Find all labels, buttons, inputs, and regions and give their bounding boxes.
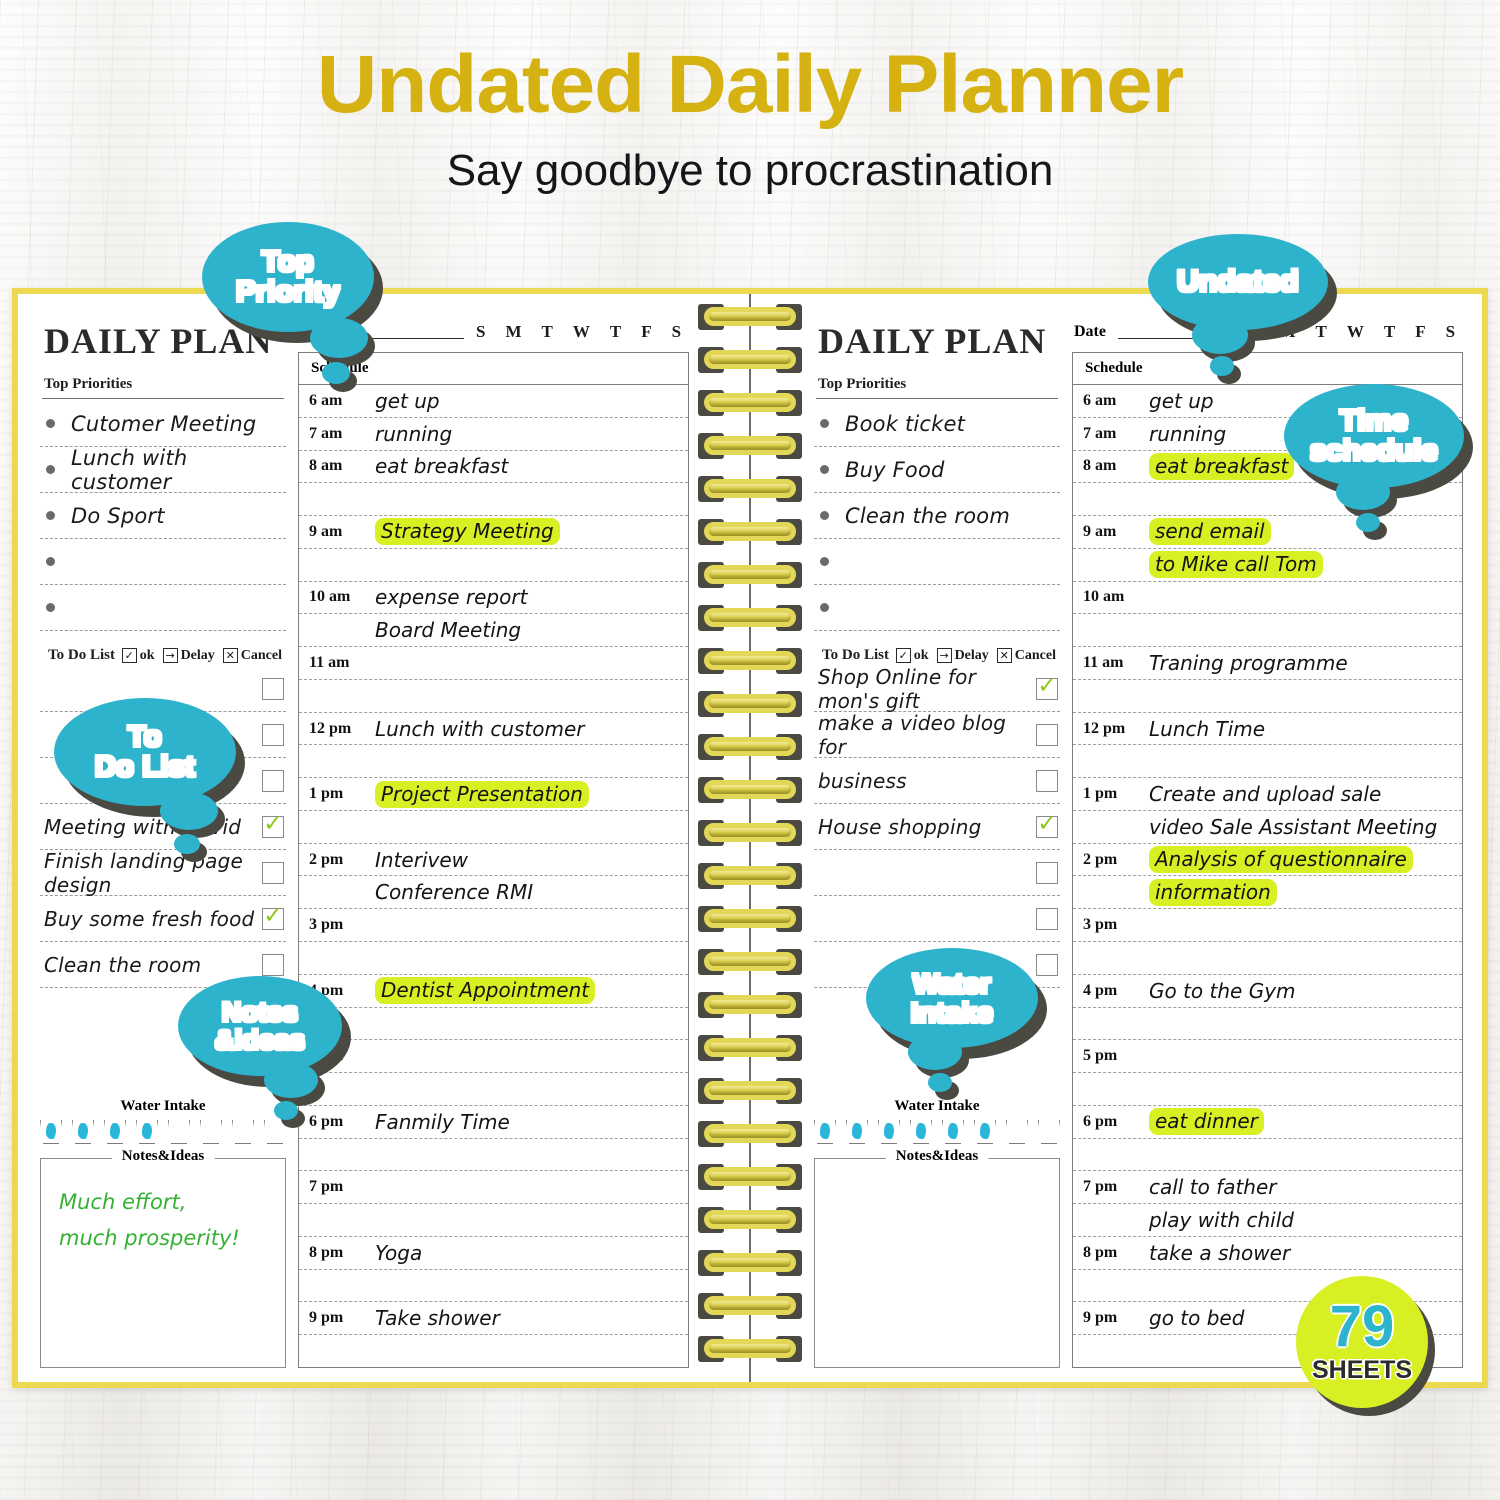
water-glass-icon[interactable]	[136, 1120, 158, 1144]
schedule-entry-highlighted: eat dinner	[1149, 1108, 1264, 1135]
bubble-tail	[264, 1062, 318, 1098]
water-glass-icon[interactable]	[878, 1120, 900, 1144]
schedule-entry: Create and upload sale	[1149, 782, 1381, 806]
schedule-entry: get up	[375, 389, 440, 413]
water-glass-icon[interactable]	[1038, 1120, 1060, 1144]
schedule-entry: running	[375, 422, 452, 446]
schedule-row[interactable]: 9 pmTake shower	[299, 1302, 688, 1335]
spiral-coil	[696, 431, 804, 461]
to-do-list-label-left: To Do List	[48, 647, 115, 664]
schedule-time: 4 pm	[1083, 982, 1149, 1000]
spiral-coil	[696, 302, 804, 332]
notes-box-left[interactable]: Notes&Ideas Much effort, much prosperity…	[40, 1158, 286, 1368]
water-glass-icon[interactable]	[72, 1120, 94, 1144]
todo-row[interactable]: business	[814, 758, 1060, 804]
promo-header: Undated Daily Planner Say goodbye to pro…	[0, 0, 1500, 196]
priority-row[interactable]: Cutomer Meeting	[40, 401, 286, 447]
dow-thursday[interactable]: T	[610, 322, 621, 342]
priority-row[interactable]	[814, 585, 1060, 631]
schedule-rows-left: 6 amget up7 amrunning8 ameat breakfast9 …	[299, 385, 688, 1367]
schedule-row[interactable]: 6 pmFanmily Time	[299, 1106, 688, 1139]
priority-list-right: Book ticket Buy Food Clean the room	[814, 401, 1060, 631]
check-icon: ✓	[122, 648, 137, 663]
spiral-coil	[696, 1119, 804, 1149]
schedule-row[interactable]: 7 pm	[299, 1171, 688, 1204]
todo-row[interactable]: Buy some fresh food	[40, 896, 286, 942]
priority-row[interactable]	[40, 585, 286, 631]
schedule-row[interactable]	[1073, 1139, 1462, 1172]
callout-line2: schedule	[1310, 435, 1438, 467]
sheets-count: 79	[1330, 1299, 1395, 1354]
schedule-time: 2 pm	[309, 851, 375, 869]
dow-wednesday[interactable]: W	[1347, 322, 1364, 342]
todo-checkbox[interactable]	[262, 724, 284, 746]
priority-row[interactable]: Lunch with customer	[40, 447, 286, 493]
schedule-time: 10 am	[1083, 588, 1149, 606]
todo-checkbox[interactable]	[1036, 908, 1058, 930]
schedule-row[interactable]: 10 amexpense report	[299, 582, 688, 615]
schedule-row[interactable]: 3 pm	[299, 909, 688, 942]
todo-text: business	[818, 769, 907, 793]
spiral-binding	[696, 294, 804, 1382]
spiral-coil	[696, 1033, 804, 1063]
callout-time-schedule: Time schedule	[1284, 384, 1464, 488]
schedule-entry: running	[1149, 422, 1226, 446]
bubble-tail	[310, 318, 368, 358]
todo-checkbox[interactable]	[262, 678, 284, 700]
water-intake-label: Water Intake	[40, 1098, 286, 1115]
schedule-row[interactable]: 8 pmYoga	[299, 1237, 688, 1270]
schedule-time: 1 pm	[309, 785, 375, 803]
todo-row[interactable]	[814, 850, 1060, 896]
todo-text: make a video blog for	[818, 711, 1036, 759]
spiral-coil	[696, 1334, 804, 1364]
todo-row[interactable]: make a video blog for	[814, 712, 1060, 758]
schedule-entry: Lunch with customer	[375, 717, 585, 741]
priority-text: Do Sport	[71, 504, 165, 528]
schedule-entry-highlighted: information	[1149, 879, 1277, 906]
right-page-priorities-column: DAILY PLAN Top Priorities Book ticket Bu…	[814, 314, 1060, 1368]
todo-row[interactable]: House shopping	[814, 804, 1060, 850]
todo-checkbox[interactable]	[1036, 724, 1058, 746]
todo-text: Shop Online for mon's gift	[818, 665, 1036, 713]
spiral-coil	[696, 388, 804, 418]
water-glass-icon[interactable]	[232, 1120, 254, 1144]
spiral-coil	[696, 474, 804, 504]
schedule-row[interactable]: 5 pm	[1073, 1040, 1462, 1073]
notes-line: much prosperity!	[59, 1221, 267, 1257]
todo-checkbox[interactable]	[262, 954, 284, 976]
schedule-time: 12 pm	[309, 720, 375, 738]
left-page-priorities-column: DAILY PLAN Top Priorities Cutomer Meetin…	[40, 314, 286, 1368]
schedule-row[interactable]: 7 pmcall to father	[1073, 1171, 1462, 1204]
schedule-entry-highlighted: eat breakfast	[1149, 453, 1294, 480]
schedule-time: 6 am	[1083, 392, 1149, 410]
schedule-entry-highlighted: send email	[1149, 518, 1271, 545]
schedule-row[interactable]	[1073, 745, 1462, 778]
schedule-entry: call to father	[1149, 1175, 1277, 1199]
bubble-tail	[928, 1073, 952, 1092]
bullet-icon	[46, 557, 55, 566]
water-glass-row-left	[40, 1120, 286, 1144]
legend-cancel: ✕Cancel	[223, 648, 282, 664]
schedule-row[interactable]	[299, 745, 688, 778]
schedule-entry: Board Meeting	[375, 618, 521, 642]
date-label: Date	[1074, 323, 1106, 341]
priority-text: Book ticket	[845, 412, 965, 436]
priority-text: Buy Food	[845, 458, 945, 482]
schedule-row[interactable]: 6 pmeat dinner	[1073, 1106, 1462, 1139]
spiral-coil	[696, 732, 804, 762]
schedule-time: 6 pm	[309, 1113, 375, 1131]
arrow-right-icon: →	[937, 648, 952, 663]
schedule-row[interactable]: 8 pmtake a shower	[1073, 1237, 1462, 1270]
schedule-row[interactable]	[299, 1073, 688, 1106]
schedule-time: 8 am	[1083, 457, 1149, 475]
spiral-coil	[696, 1248, 804, 1278]
bullet-icon	[820, 557, 829, 566]
bullet-icon	[820, 465, 829, 474]
schedule-row[interactable]: 1 pmCreate and upload sale	[1073, 778, 1462, 811]
schedule-row[interactable]: 7 amrunning	[299, 418, 688, 451]
schedule-row[interactable]	[299, 811, 688, 844]
water-glass-icon[interactable]	[942, 1120, 964, 1144]
water-glass-icon[interactable]	[264, 1120, 286, 1144]
schedule-time: 11 am	[1083, 654, 1149, 672]
sheets-badge: 79 SHEETS	[1296, 1276, 1428, 1408]
water-glass-icon[interactable]	[1006, 1120, 1028, 1144]
arrow-right-icon: →	[163, 648, 178, 663]
bubble-tail	[274, 1101, 298, 1120]
callout-line2: Priority	[236, 276, 340, 308]
schedule-row[interactable]	[299, 1335, 688, 1367]
callout-top-priority: Top Priority	[202, 222, 374, 332]
priority-row[interactable]	[814, 539, 1060, 585]
water-glass-icon[interactable]	[104, 1120, 126, 1144]
schedule-row[interactable]	[1073, 1073, 1462, 1106]
notes-line: Much effort,	[59, 1185, 267, 1221]
schedule-time: 7 pm	[1083, 1178, 1149, 1196]
bubble-tail	[1356, 513, 1380, 532]
todo-row[interactable]	[814, 896, 1060, 942]
schedule-time: 6 am	[309, 392, 375, 410]
bubble-tail	[908, 1034, 962, 1070]
dow-sunday[interactable]: S	[476, 322, 485, 342]
dow-monday[interactable]: M	[1279, 322, 1295, 342]
dow-tuesday[interactable]: T	[542, 322, 553, 342]
spiral-coil	[696, 861, 804, 891]
dow-monday[interactable]: M	[505, 322, 521, 342]
schedule-row[interactable]: 2 pmInterivew	[299, 844, 688, 877]
callout-line1: Water	[913, 968, 991, 999]
legend-label: Delay	[955, 648, 989, 664]
schedule-row[interactable]: 5 pm	[299, 1040, 688, 1073]
to-do-list-label-right: To Do List	[822, 647, 889, 664]
schedule-time: 5 pm	[1083, 1047, 1149, 1065]
dow-friday[interactable]: F	[641, 322, 651, 342]
schedule-time: 11 am	[309, 654, 375, 672]
schedule-row[interactable]: video Sale Assistant Meeting	[1073, 811, 1462, 844]
cross-icon: ✕	[223, 648, 238, 663]
spiral-coil	[696, 646, 804, 676]
plan-title-right: DAILY PLAN	[818, 320, 1060, 362]
schedule-time: 2 pm	[1083, 851, 1149, 869]
callout-line1: Time	[1340, 405, 1408, 437]
notes-label: Notes&Ideas	[886, 1148, 989, 1165]
schedule-entry: Fanmily Time	[375, 1110, 510, 1134]
schedule-entry: take a shower	[1149, 1241, 1290, 1265]
priority-row[interactable]: Do Sport	[40, 493, 286, 539]
water-glass-row-right	[814, 1120, 1060, 1144]
schedule-row[interactable]: 9 amsend email	[1073, 516, 1462, 549]
schedule-time: 3 pm	[1083, 916, 1149, 934]
spiral-coil	[696, 947, 804, 977]
schedule-row[interactable]: 10 am	[1073, 582, 1462, 615]
schedule-time: 1 pm	[1083, 785, 1149, 803]
callout-line1: Notes	[222, 997, 299, 1027]
todo-row[interactable]: Finish landing page design	[40, 850, 286, 896]
bullet-icon	[46, 419, 55, 428]
schedule-time: 8 am	[309, 457, 375, 475]
schedule-row[interactable]	[1073, 680, 1462, 713]
legend-delay: →Delay	[937, 648, 989, 664]
bubble-tail	[174, 834, 200, 854]
schedule-row[interactable]	[1073, 483, 1462, 516]
schedule-row[interactable]	[299, 680, 688, 713]
schedule-entry: Go to the Gym	[1149, 979, 1296, 1003]
sheets-label: SHEETS	[1312, 1356, 1412, 1385]
todo-header-left: To Do List ✓ok →Delay ✕Cancel	[44, 647, 282, 664]
schedule-row[interactable]	[1073, 942, 1462, 975]
legend-ok: ✓ok	[122, 648, 155, 664]
dow-friday[interactable]: F	[1415, 322, 1425, 342]
schedule-entry: expense report	[375, 585, 527, 609]
spiral-coil	[696, 818, 804, 848]
water-glass-icon[interactable]	[40, 1120, 62, 1144]
schedule-time: 10 am	[309, 588, 375, 606]
priority-list-left: Cutomer Meeting Lunch with customer Do S…	[40, 401, 286, 631]
schedule-time: 7 am	[309, 425, 375, 443]
schedule-time: 6 pm	[1083, 1113, 1149, 1131]
priority-row[interactable]: Buy Food	[814, 447, 1060, 493]
notes-label: Notes&Ideas	[112, 1148, 215, 1165]
schedule-row[interactable]: 1 pmProject Presentation	[299, 778, 688, 811]
schedule-row[interactable]: Conference RMI	[299, 876, 688, 909]
legend-label: ok	[140, 648, 155, 664]
water-glass-icon[interactable]	[846, 1120, 868, 1144]
spiral-coil	[696, 775, 804, 805]
callout-line2: &ideas	[215, 1025, 305, 1055]
schedule-entry: Take shower	[375, 1306, 500, 1330]
schedule-time: 9 pm	[1083, 1309, 1149, 1327]
bullet-icon	[46, 465, 55, 474]
schedule-label-left: Schedule	[299, 353, 688, 385]
page-subtitle: Say goodbye to procrastination	[0, 128, 1500, 196]
spiral-coil	[696, 689, 804, 719]
spiral-coil	[696, 1291, 804, 1321]
water-glass-icon[interactable]	[200, 1120, 222, 1144]
schedule-row[interactable]: 11 am	[299, 647, 688, 680]
schedule-row[interactable]: 9 amStrategy Meeting	[299, 516, 688, 549]
callout-to-do-list: To Do List	[54, 698, 236, 806]
bubble-tail	[1210, 356, 1234, 376]
priority-row[interactable]: Clean the room	[814, 493, 1060, 539]
water-intake-right: Water Intake	[814, 1098, 1060, 1144]
dow-saturday[interactable]: S	[672, 322, 681, 342]
schedule-row[interactable]: play with child	[1073, 1204, 1462, 1237]
schedule-time: 12 pm	[1083, 720, 1149, 738]
schedule-entry: Lunch Time	[1149, 717, 1265, 741]
todo-checkbox[interactable]	[1036, 862, 1058, 884]
schedule-row[interactable]	[299, 483, 688, 516]
schedule-row[interactable]: 2 pmAnalysis of questionnaire	[1073, 844, 1462, 877]
todo-checkbox[interactable]	[1036, 816, 1058, 838]
water-intake-label: Water Intake	[814, 1098, 1060, 1115]
schedule-entry: video Sale Assistant Meeting	[1149, 815, 1437, 839]
bullet-icon	[820, 603, 829, 612]
bullet-icon	[820, 419, 829, 428]
dow-tuesday[interactable]: T	[1316, 322, 1327, 342]
bubble-tail	[322, 362, 350, 384]
schedule-row[interactable]: Board Meeting	[299, 614, 688, 647]
schedule-entry: Conference RMI	[375, 880, 533, 904]
spiral-coil	[696, 345, 804, 375]
priority-text: Lunch with customer	[71, 446, 286, 494]
divider	[816, 398, 1058, 399]
callout-undated: Undated	[1148, 234, 1328, 330]
spiral-coil	[696, 990, 804, 1020]
check-icon: ✓	[896, 648, 911, 663]
schedule-entry: Yoga	[375, 1241, 422, 1265]
dow-thursday[interactable]: T	[1384, 322, 1395, 342]
water-glass-icon[interactable]	[168, 1120, 190, 1144]
schedule-row[interactable]: 11 amTraning programme	[1073, 647, 1462, 680]
schedule-entry-highlighted: Strategy Meeting	[375, 518, 560, 545]
schedule-entry: Interivew	[375, 848, 468, 872]
schedule-label-right: Schedule	[1073, 353, 1462, 385]
day-of-week-row-left: S M T W T F S	[476, 322, 687, 342]
todo-checkbox[interactable]	[1036, 770, 1058, 792]
notes-box-right[interactable]: Notes&Ideas	[814, 1158, 1060, 1368]
bubble-tail	[160, 792, 218, 830]
day-of-week-row-right: S M T W T F S	[1250, 322, 1461, 342]
schedule-time: 9 pm	[309, 1309, 375, 1327]
schedule-time: 9 am	[1083, 523, 1149, 541]
schedule-time: 8 pm	[1083, 1244, 1149, 1262]
spiral-coil	[696, 560, 804, 590]
schedule-row[interactable]: 4 pmGo to the Gym	[1073, 975, 1462, 1008]
todo-legend-right: ✓ok →Delay ✕Cancel	[896, 648, 1056, 664]
callout-water-intake: Water Intake	[866, 948, 1038, 1048]
priority-text: Clean the room	[845, 504, 1010, 528]
bubble-tail	[1192, 316, 1248, 354]
schedule-row[interactable]	[299, 1139, 688, 1172]
legend-label: ok	[914, 648, 929, 664]
spiral-coil	[696, 603, 804, 633]
schedule-entry: eat breakfast	[375, 454, 508, 478]
page-title: Undated Daily Planner	[0, 0, 1500, 128]
divider	[42, 398, 284, 399]
todo-checkbox[interactable]	[262, 908, 284, 930]
todo-list-right: Shop Online for mon's gift make a video …	[814, 666, 1060, 988]
schedule-entry-highlighted: Project Presentation	[375, 781, 589, 808]
todo-checkbox[interactable]	[1036, 954, 1058, 976]
water-glass-icon[interactable]	[910, 1120, 932, 1144]
schedule-time: 7 am	[1083, 425, 1149, 443]
schedule-entry: play with child	[1149, 1208, 1294, 1232]
water-glass-icon[interactable]	[814, 1120, 836, 1144]
schedule-time: 9 am	[309, 523, 375, 541]
schedule-row[interactable]: 6 amget up	[299, 385, 688, 418]
callout-line1: Undated	[1177, 265, 1299, 298]
dow-saturday[interactable]: S	[1446, 322, 1455, 342]
todo-text: Clean the room	[44, 953, 201, 977]
schedule-entry: Traning programme	[1149, 651, 1348, 675]
todo-legend-left: ✓ok →Delay ✕Cancel	[122, 648, 282, 664]
schedule-entry-highlighted: to Mike call Tom	[1149, 551, 1323, 578]
top-priorities-label-left: Top Priorities	[44, 376, 286, 393]
spiral-coil	[696, 1076, 804, 1106]
legend-label: Cancel	[241, 648, 282, 664]
schedule-entry: go to bed	[1149, 1306, 1244, 1330]
todo-checkbox[interactable]	[1036, 678, 1058, 700]
schedule-row[interactable]: 8 ameat breakfast	[299, 451, 688, 484]
schedule-row[interactable]: 3 pm	[1073, 909, 1462, 942]
schedule-entry: get up	[1149, 389, 1214, 413]
water-glass-icon[interactable]	[974, 1120, 996, 1144]
schedule-row[interactable]	[299, 1204, 688, 1237]
schedule-row[interactable]	[1073, 614, 1462, 647]
schedule-row[interactable]: to Mike call Tom	[1073, 549, 1462, 582]
todo-row[interactable]: Shop Online for mon's gift	[814, 666, 1060, 712]
schedule-row[interactable]	[299, 942, 688, 975]
bullet-icon	[46, 511, 55, 520]
callout-line2: Do List	[95, 751, 195, 783]
schedule-row[interactable]	[299, 1270, 688, 1303]
schedule-box-right: Schedule 6 amget up7 amrunning8 ameat br…	[1072, 352, 1463, 1368]
schedule-row[interactable]: 12 pmLunch with customer	[299, 713, 688, 746]
legend-cancel: ✕Cancel	[997, 648, 1056, 664]
todo-text: House shopping	[818, 815, 981, 839]
schedule-rows-right: 6 amget up7 amrunning8 ameat breakfast9 …	[1073, 385, 1462, 1367]
todo-header-right: To Do List ✓ok →Delay ✕Cancel	[818, 647, 1056, 664]
spiral-coil	[696, 904, 804, 934]
schedule-time: 7 pm	[309, 1178, 375, 1196]
dow-wednesday[interactable]: W	[573, 322, 590, 342]
schedule-row[interactable]	[299, 549, 688, 582]
legend-ok: ✓ok	[896, 648, 929, 664]
callout-line2: Intake	[911, 997, 994, 1028]
todo-checkbox[interactable]	[262, 816, 284, 838]
priority-row[interactable]	[40, 539, 286, 585]
cross-icon: ✕	[997, 648, 1012, 663]
schedule-row[interactable]: 4 pmDentist Appointment	[299, 975, 688, 1008]
schedule-row[interactable]	[1073, 1008, 1462, 1041]
priority-text: Cutomer Meeting	[71, 412, 256, 436]
todo-checkbox[interactable]	[262, 770, 284, 792]
spiral-coil	[696, 517, 804, 547]
legend-delay: →Delay	[163, 648, 215, 664]
schedule-row[interactable]: 12 pmLunch Time	[1073, 713, 1462, 746]
todo-text: Buy some fresh food	[44, 907, 254, 931]
schedule-box-left: Schedule 6 amget up7 amrunning8 ameat br…	[298, 352, 689, 1368]
schedule-row[interactable]	[299, 1008, 688, 1041]
callout-line1: Top	[262, 246, 314, 278]
priority-row[interactable]: Book ticket	[814, 401, 1060, 447]
todo-checkbox[interactable]	[262, 862, 284, 884]
schedule-row[interactable]: information	[1073, 876, 1462, 909]
bullet-icon	[820, 511, 829, 520]
